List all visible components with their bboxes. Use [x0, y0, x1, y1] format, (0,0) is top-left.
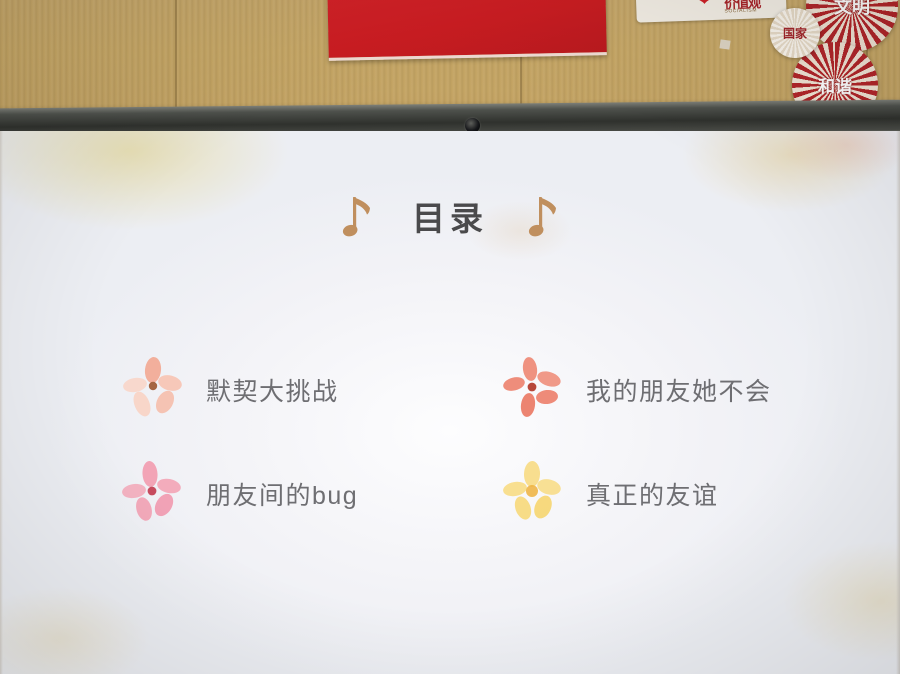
flower-glyph — [122, 357, 184, 419]
slide-title-row: 目录 — [0, 192, 900, 240]
flower-icon — [122, 461, 184, 528]
placard-subtitle: SOCIALISM — [724, 7, 757, 14]
flower-icon — [502, 357, 564, 424]
flower-glyph — [502, 461, 564, 523]
table-of-contents: 默契大挑战 我的朋友她不会 — [122, 338, 822, 546]
red-bulletin-board — [327, 0, 607, 61]
flower-glyph — [502, 357, 564, 419]
toc-item-1[interactable]: 默契大挑战 — [122, 338, 502, 442]
toc-item-label: 默契大挑战 — [206, 372, 339, 408]
toc-item-4[interactable]: 真正的友谊 — [502, 442, 822, 546]
flower-icon — [502, 461, 564, 528]
flower-icon — [122, 357, 184, 424]
music-note-glyph — [340, 192, 374, 240]
music-note-icon — [526, 192, 560, 240]
toc-item-label: 朋友间的bug — [206, 476, 358, 512]
toc-item-3[interactable]: 朋友间的bug — [122, 442, 502, 546]
fan-label: 和谐 — [792, 73, 878, 98]
wall-paper-scrap — [719, 39, 730, 49]
page-title: 目录 — [412, 192, 488, 240]
music-note-glyph — [526, 192, 560, 240]
fan-label: 文明 — [806, 0, 898, 19]
toc-item-label: 我的朋友她不会 — [586, 372, 772, 408]
fan-label: 国家 — [770, 25, 820, 42]
fan-decoration-guojia: 国家 — [770, 8, 820, 58]
toc-item-label: 真正的友谊 — [586, 476, 719, 512]
flower-glyph — [122, 461, 184, 523]
photo-frame: THE CORE VALUES OF CHINESE ❤ 价值观 SOCIALI… — [0, 0, 900, 674]
heart-icon: ❤ — [698, 0, 721, 10]
toc-item-2[interactable]: 我的朋友她不会 — [502, 338, 822, 442]
music-note-icon — [340, 192, 374, 240]
